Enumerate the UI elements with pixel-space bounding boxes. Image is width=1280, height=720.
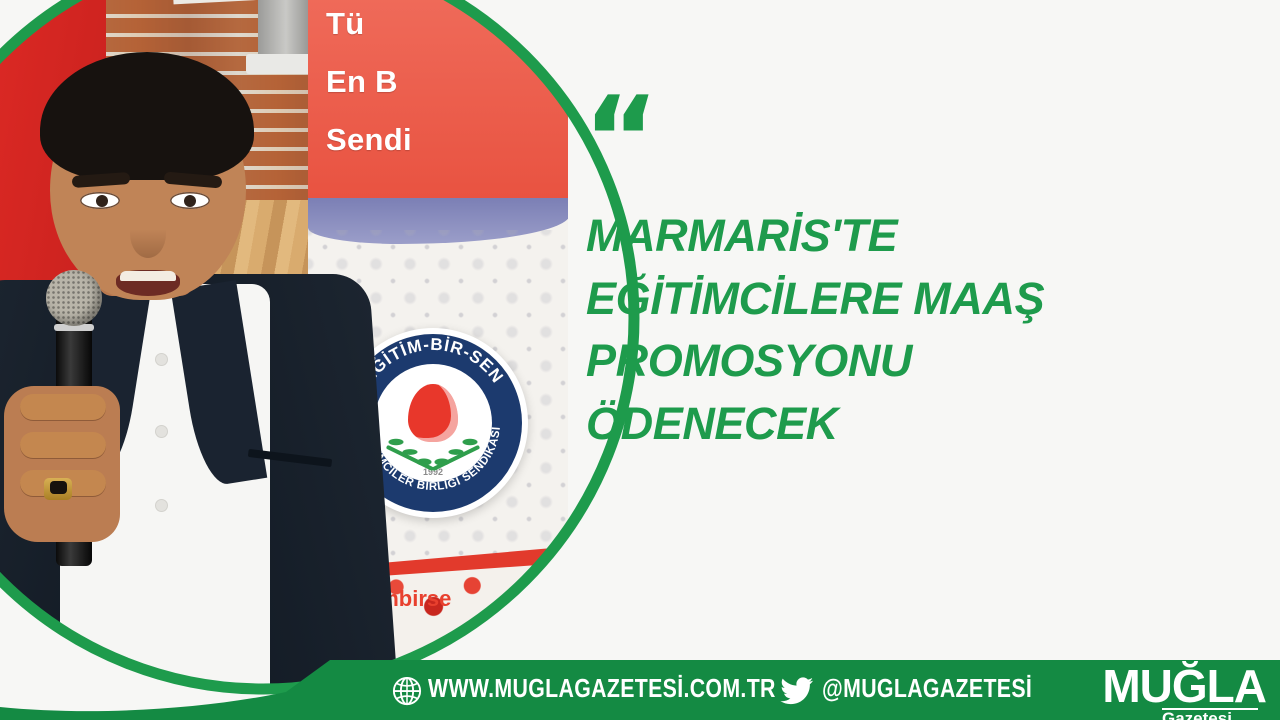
headline-line-1: MARMARİS'TE [586, 205, 1234, 268]
microphone-head [46, 270, 102, 326]
finger [20, 432, 106, 458]
website-url[interactable]: WWW.MUGLAGAZETESİ.COM.TR [428, 673, 776, 704]
headline-line-2: EĞİTİMCİLERE MAAŞ [586, 268, 1234, 331]
hair [40, 52, 254, 180]
shirt-button [156, 426, 167, 437]
brand-logo[interactable]: MUĞLA Gazetesi [1036, 662, 1266, 720]
twitter-handle[interactable]: @MUGLAGAZETESİ [822, 673, 1032, 704]
ring-stone [50, 481, 67, 494]
emblem-wheat-leaves [382, 434, 484, 480]
shirt-button [156, 354, 167, 365]
teeth [120, 271, 176, 281]
news-card: Tü En B Sendi egitimbirse [0, 0, 1280, 720]
quote-mark-icon: “ [583, 82, 655, 198]
page-title: MARMARİS'TE EĞİTİMCİLERE MAAŞ PROMOSYONU… [586, 205, 1234, 455]
headline-line-3: PROMOSYONU [586, 330, 1234, 393]
shirt-button [156, 500, 167, 511]
photo-circle: Tü En B Sendi egitimbirse [0, 0, 568, 694]
pupil-right [184, 195, 196, 207]
footer-bar: WWW.MUGLAGAZETESİ.COM.TR @MUGLAGAZETESİ … [0, 660, 1280, 720]
pupil-left [96, 195, 108, 207]
speaker-figure [0, 34, 378, 694]
nose [130, 210, 166, 258]
brand-name: MUĞLA [1036, 664, 1266, 708]
headline-line-4: ÖDENECEK [586, 393, 1234, 456]
finger [20, 394, 106, 420]
globe-icon[interactable] [392, 676, 422, 706]
svg-text:EĞİTİM-BİR-SEN: EĞİTİM-BİR-SEN [359, 335, 508, 387]
twitter-bird-icon[interactable] [780, 677, 814, 705]
speaker-photo: Tü En B Sendi egitimbirse [0, 0, 568, 694]
